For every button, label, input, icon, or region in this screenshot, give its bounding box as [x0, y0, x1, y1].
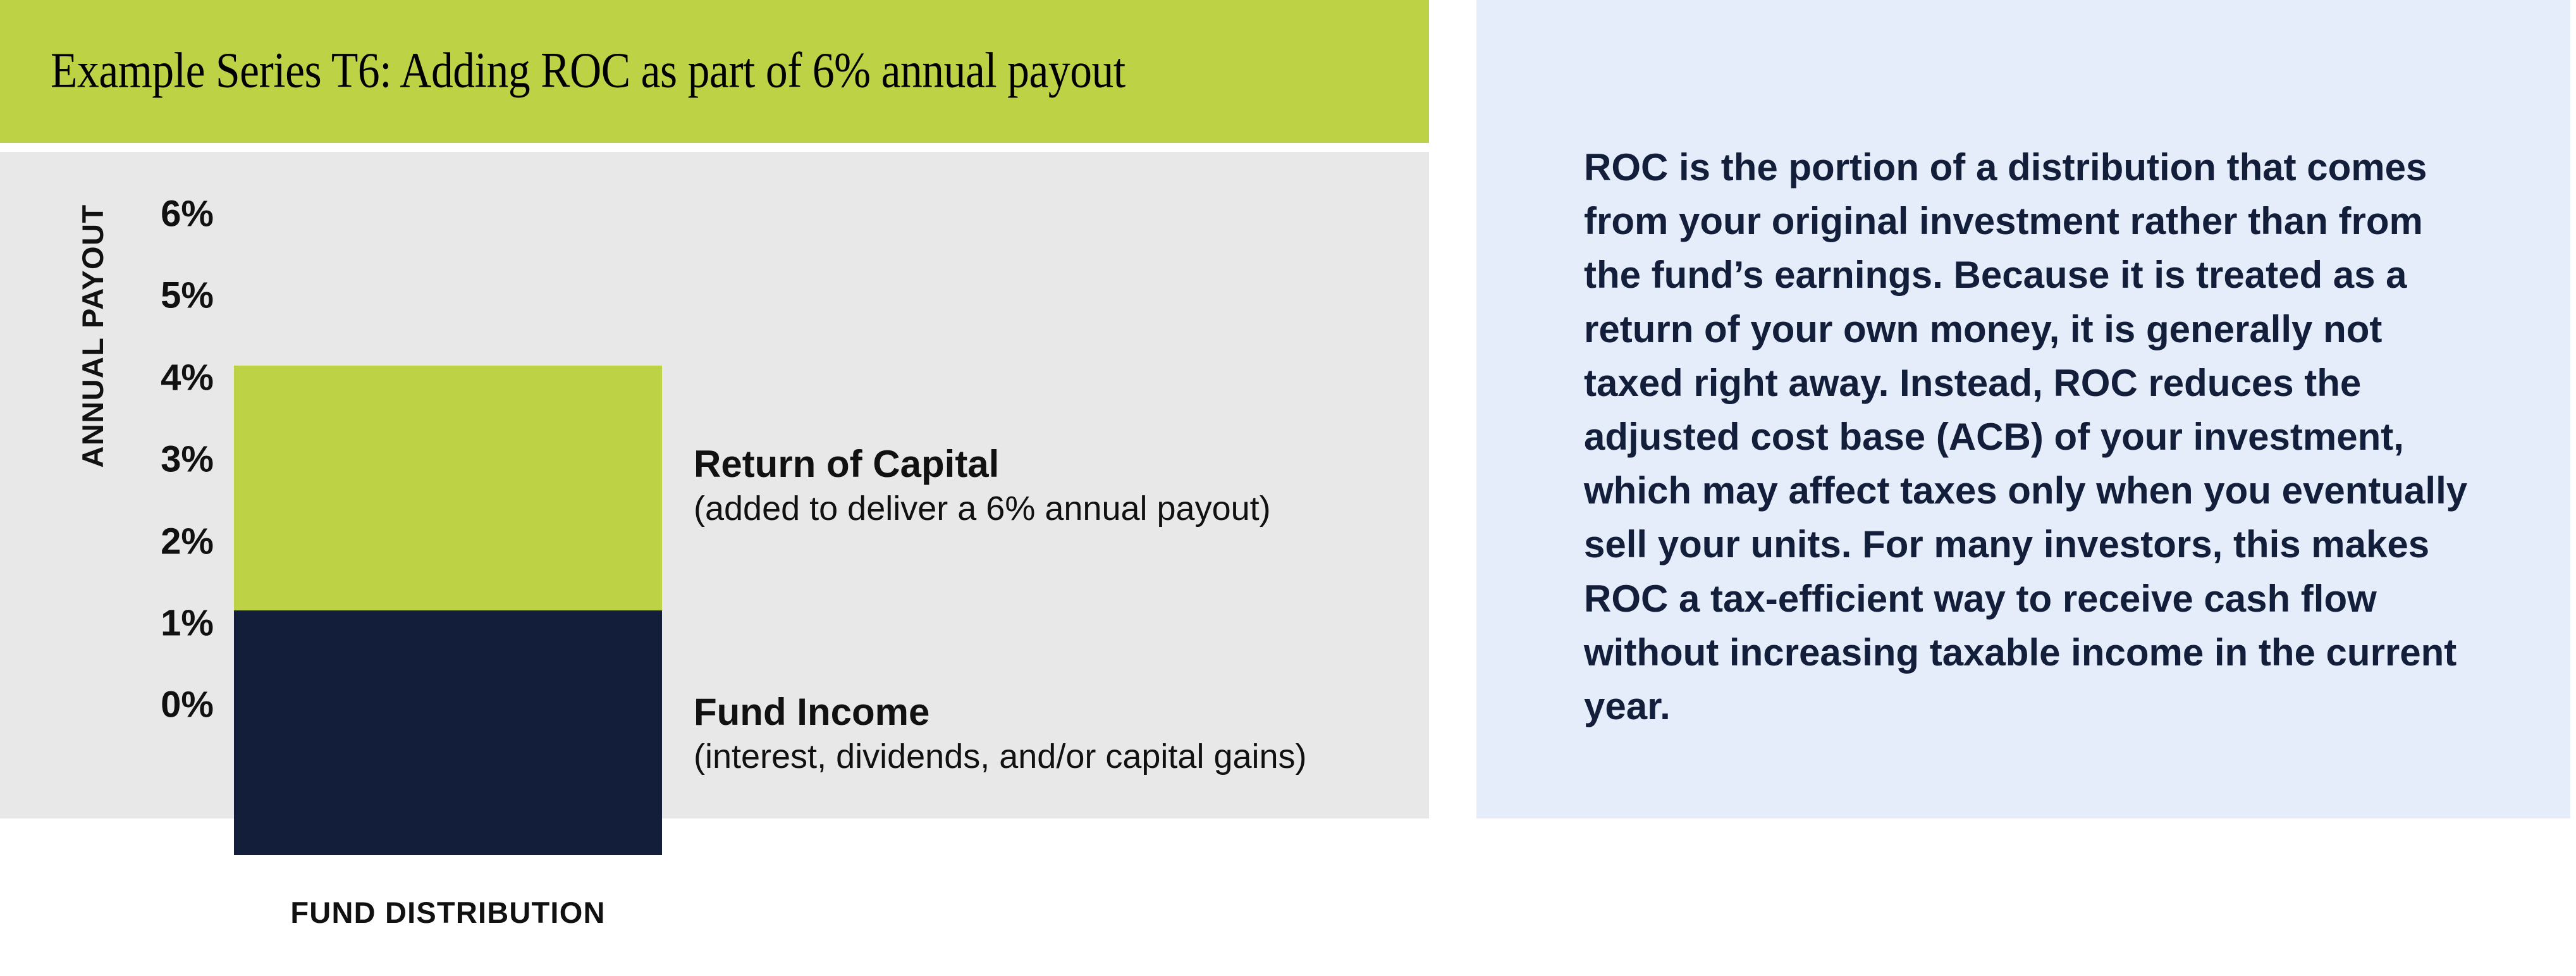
chart-title-banner: Example Series T6: Adding ROC as part of… — [0, 0, 1429, 143]
y-tick-label-5: 5% — [161, 275, 214, 317]
y-tick-label-6: 6% — [161, 193, 214, 235]
legend-item-return-of-capital: Return of Capital (added to deliver a 6%… — [694, 443, 1271, 528]
roc-explainer-text: ROC is the portion of a distribution tha… — [1584, 140, 2482, 733]
y-tick-label-4: 4% — [161, 357, 214, 399]
bar-segment-return-of-capital — [234, 366, 662, 610]
chart-card: Example Series T6: Adding ROC as part of… — [0, 0, 1429, 818]
y-tick-label-1: 1% — [161, 602, 214, 645]
x-axis-title: FUND DISTRIBUTION — [234, 895, 662, 930]
stacked-bar — [234, 366, 662, 855]
y-tick-label-2: 2% — [161, 521, 214, 563]
legend-item-fund-income: Fund Income (interest, dividends, and/or… — [694, 691, 1307, 776]
roc-info-panel: ROC is the portion of a distribution tha… — [1476, 0, 2570, 818]
legend-label-fund-income: Fund Income — [694, 691, 1307, 733]
page-title: Example Series T6: Adding ROC as part of… — [51, 46, 1272, 98]
chart-plot-panel: ANNUAL PAYOUT 6% 5% 4% 3% 2% 1% 0% FUND … — [0, 152, 1429, 818]
y-tick-label-0: 0% — [161, 684, 214, 726]
chart-title-text: Example Series T6: Adding ROC as part of… — [51, 46, 1125, 98]
y-axis-tick-group: 6% 5% 4% 3% 2% 1% 0% — [101, 152, 214, 976]
y-tick-label-3: 3% — [161, 438, 214, 481]
bar-segment-fund-income — [234, 610, 662, 855]
legend-sublabel-return-of-capital: (added to deliver a 6% annual payout) — [694, 489, 1271, 528]
legend-label-return-of-capital: Return of Capital — [694, 443, 1271, 485]
legend-sublabel-fund-income: (interest, dividends, and/or capital gai… — [694, 737, 1307, 776]
